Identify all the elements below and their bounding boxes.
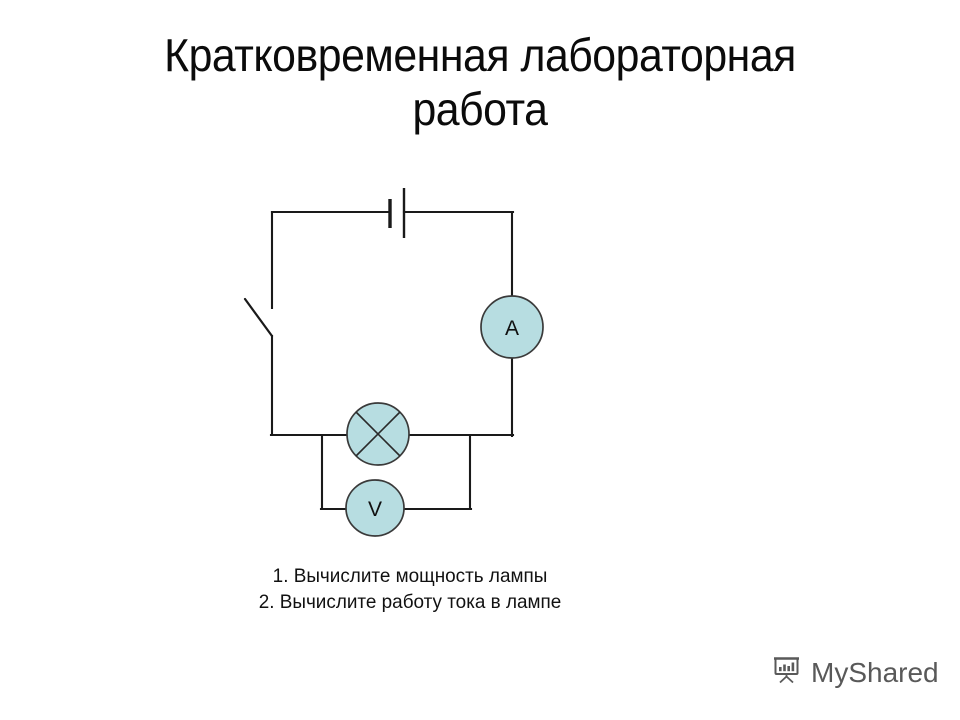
watermark-label: MyShared [811,658,939,688]
task-list: 1. Вычислите мощность лампы 2. Вычислите… [30,563,790,615]
myshared-watermark: MyShared [772,655,939,690]
switch-lever[interactable] [245,299,272,336]
lamp-symbol [347,403,409,465]
ammeter-symbol: A [481,296,543,358]
circuit-wires [271,212,513,509]
switch-symbol[interactable] [245,299,272,336]
voltmeter-label: V [368,498,382,521]
task-item-2: 2. Вычислите работу тока в лампе [41,589,778,615]
battery-symbol [390,188,404,238]
voltmeter-symbol: V [346,480,404,536]
task-item-1: 1. Вычислите мощность лампы [41,563,778,589]
slide-canvas: Кратковременная лабораторная работа [0,0,960,720]
presentation-board-icon [772,655,802,690]
ammeter-label: A [505,317,519,340]
